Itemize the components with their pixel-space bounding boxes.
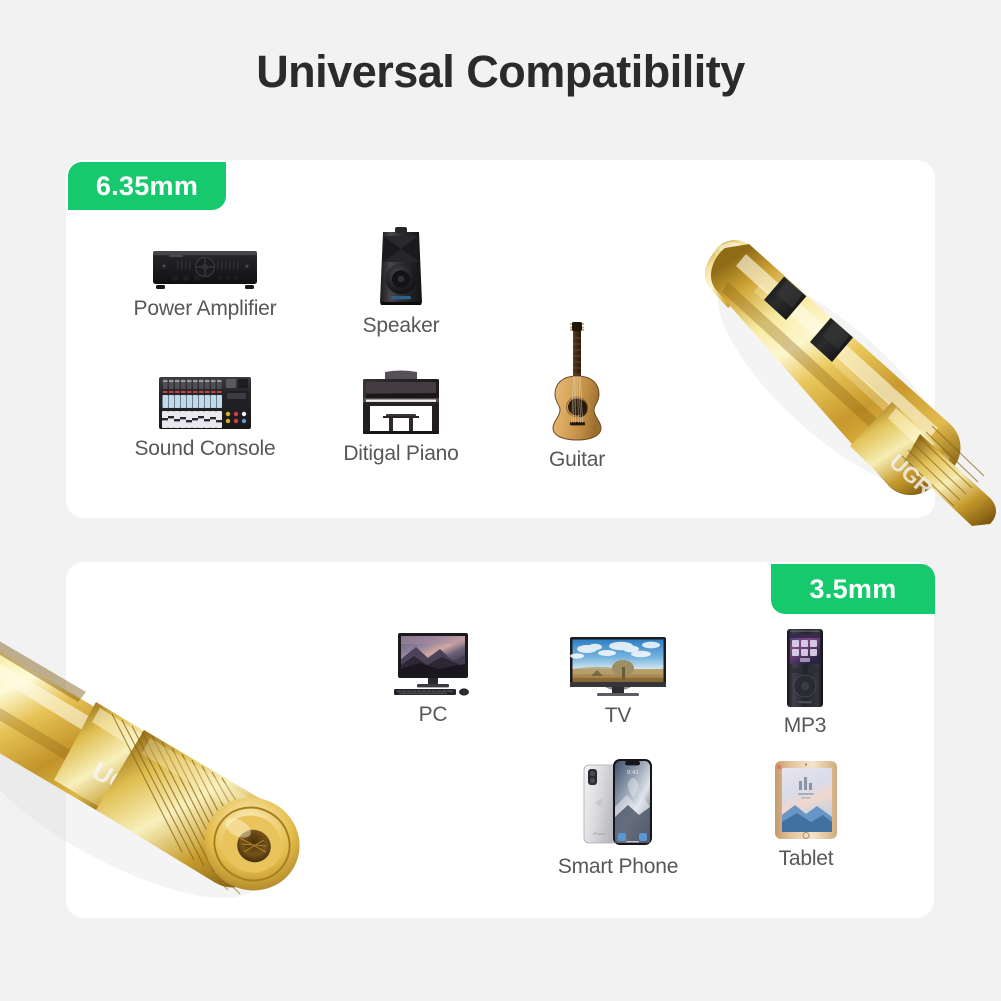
device-label: Speaker xyxy=(343,314,459,338)
infographic-canvas: Universal Compatibility 6.35mm xyxy=(0,0,1001,1001)
smartphone-icon: iPhone 9:41 xyxy=(581,757,655,849)
device-label: PC xyxy=(390,703,476,727)
mp3-player-icon xyxy=(786,628,824,708)
compatibility-card-635 xyxy=(66,160,935,518)
device-label: Power Amplifier xyxy=(120,297,290,321)
power-amplifier-icon xyxy=(151,245,259,291)
page-title: Universal Compatibility xyxy=(0,46,1001,98)
device-item-guitar: Guitar xyxy=(525,318,629,472)
device-label: MP3 xyxy=(779,714,831,738)
device-label: Ditigal Piano xyxy=(330,442,472,466)
device-item-tv: TV xyxy=(569,636,667,728)
svg-text:iPhone: iPhone xyxy=(593,831,606,836)
tablet-icon xyxy=(773,759,839,841)
digital-piano-icon xyxy=(355,370,447,436)
device-label: Smart Phone xyxy=(547,855,689,879)
svg-text:9:41: 9:41 xyxy=(627,770,639,776)
desktop-pc-icon xyxy=(390,631,476,697)
device-label: TV xyxy=(569,704,667,728)
status-badge-635: 6.35mm xyxy=(68,162,226,210)
device-item-mp3: MP3 xyxy=(779,628,831,738)
device-item-sound-console: Sound Console xyxy=(120,375,290,461)
device-item-power-amplifier: Power Amplifier xyxy=(120,245,290,321)
device-label: Sound Console xyxy=(120,437,290,461)
device-label: Guitar xyxy=(525,448,629,472)
speaker-icon xyxy=(375,224,427,308)
device-item-tablet: Tablet xyxy=(765,759,847,871)
device-item-pc: PC xyxy=(390,631,476,727)
sound-console-icon xyxy=(158,375,252,431)
status-badge-35: 3.5mm xyxy=(771,564,935,614)
device-label: Tablet xyxy=(765,847,847,871)
television-icon xyxy=(569,636,667,698)
device-item-smart-phone: iPhone 9:41 Smart Phone xyxy=(547,757,689,879)
guitar-icon xyxy=(549,318,605,442)
device-item-digital-piano: Ditigal Piano xyxy=(330,370,472,466)
device-item-speaker: Speaker xyxy=(343,224,459,338)
